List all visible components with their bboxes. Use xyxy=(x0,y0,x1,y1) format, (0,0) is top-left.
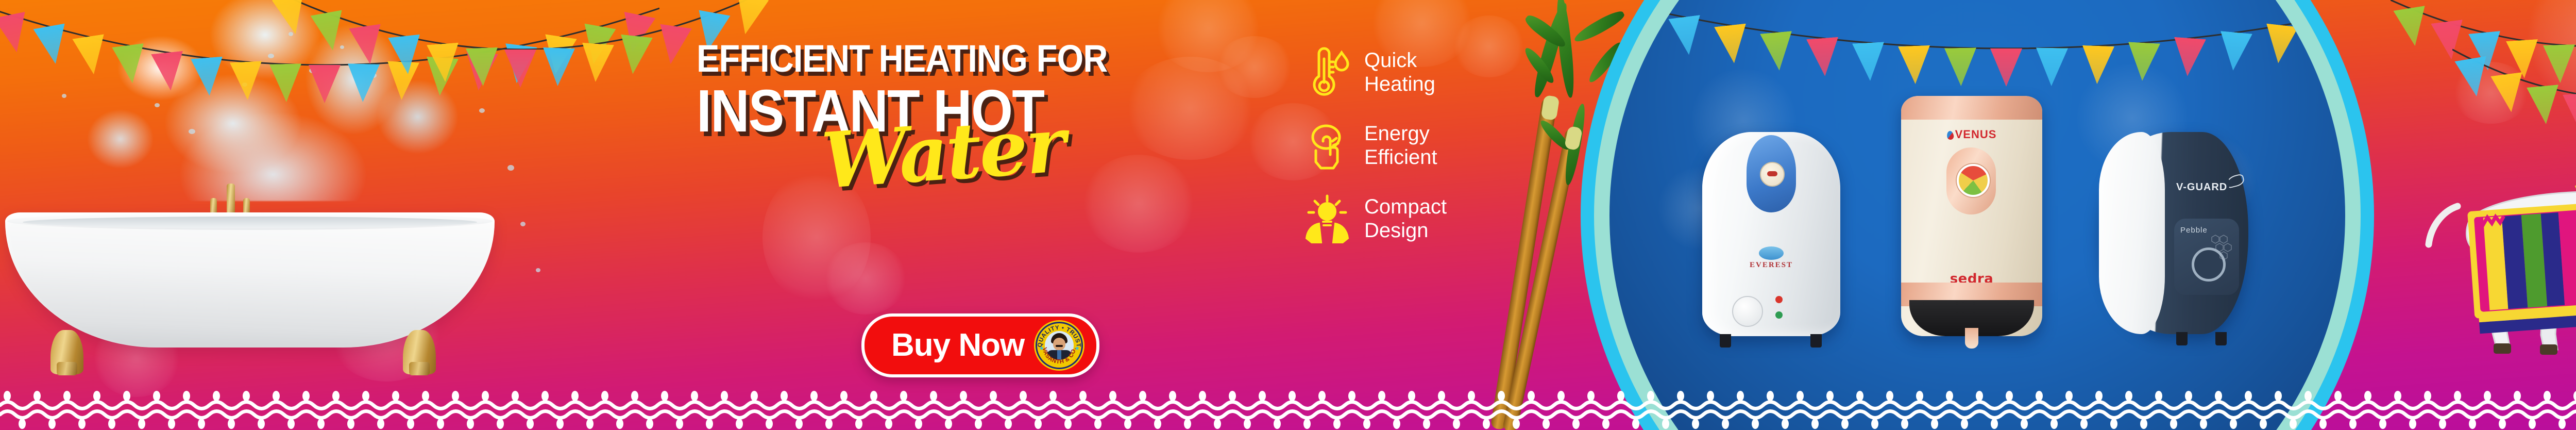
power-led xyxy=(1775,311,1783,319)
kolam-dot xyxy=(1035,419,1042,429)
kolam-dot xyxy=(721,391,728,401)
kolam-dot xyxy=(407,419,414,429)
kolam-dot xyxy=(138,419,145,429)
kolam-dot xyxy=(2454,391,2461,401)
kolam-dot xyxy=(1094,419,1101,429)
kolam-dot xyxy=(1752,419,1759,429)
product-brand-label: V-GUARD xyxy=(2176,181,2227,193)
kolam-dot xyxy=(1647,391,1654,401)
kolam-dot xyxy=(1856,391,1863,401)
kolam-dot xyxy=(825,419,833,429)
kolam-dot xyxy=(1020,391,1027,401)
bunting-flag xyxy=(33,24,71,67)
kolam-dot xyxy=(691,391,698,401)
bunting-flags xyxy=(2391,0,2576,62)
kolam-dot xyxy=(960,391,967,401)
kolam-dot xyxy=(258,419,265,429)
kolam-dot xyxy=(1991,419,1998,429)
water-splash xyxy=(72,0,474,201)
feature-compact-design: Compact Design xyxy=(1303,192,1525,245)
kolam-dot xyxy=(1274,419,1281,429)
bunting-flag xyxy=(730,0,769,38)
kolam-dot xyxy=(1901,419,1908,429)
decorated-pongal-bull xyxy=(2421,77,2576,366)
kolam-dot xyxy=(452,391,459,401)
kolam-dot xyxy=(362,391,369,401)
kolam-dot xyxy=(1423,419,1430,429)
kolam-dot xyxy=(1557,391,1565,401)
feature-quick-heating-label: Quick Heating xyxy=(1364,48,1435,96)
kolam-dot xyxy=(2275,391,2282,401)
heating-led xyxy=(1775,296,1783,303)
vasanth-co-badge: QUALITY • TRUST VASANTH & CO. xyxy=(1036,322,1083,369)
kolam-dot xyxy=(1871,419,1878,429)
bunting-flag xyxy=(578,24,616,67)
feature-compact-design-label: Compact Design xyxy=(1364,195,1447,242)
kolam-dot xyxy=(571,391,579,401)
kolam-dot xyxy=(1468,391,1475,401)
kolam-dot xyxy=(1259,391,1266,401)
kolam-dot xyxy=(855,419,862,429)
feature-list: Quick Heating Energy Efficient xyxy=(1303,45,1525,245)
temperature-gauge xyxy=(1957,164,1990,197)
kolam-dot xyxy=(1916,391,1923,401)
bunting-flag xyxy=(501,43,537,85)
buy-now-button[interactable]: Buy Now QUALITY • TRUST VASANTH & CO. xyxy=(861,313,1099,377)
bunting-flag xyxy=(539,35,577,77)
kolam-dot xyxy=(870,391,877,401)
bunting-flag xyxy=(617,35,653,76)
kolam-dot xyxy=(2529,419,2536,429)
feature-energy-efficient-label: Energy Efficient xyxy=(1364,122,1437,169)
kolam-dot xyxy=(915,419,922,429)
kolam-dot xyxy=(1049,391,1057,401)
bunting-flag xyxy=(1806,37,1841,77)
venus-drop-logo xyxy=(1946,130,1954,140)
kolam-dot xyxy=(1184,419,1191,429)
kolam-dot xyxy=(2379,419,2386,429)
kolam-dot xyxy=(2215,391,2222,401)
kolam-dot xyxy=(302,391,310,401)
feature-quick-heating: Quick Heating xyxy=(1303,45,1525,99)
bunting-flag xyxy=(1714,24,1750,65)
buy-now-label: Buy Now xyxy=(891,329,1024,361)
kolam-dot xyxy=(1662,419,1669,429)
kolam-wave-line xyxy=(0,402,2576,409)
headline-line-1: EFFICIENT HEATING FOR xyxy=(697,40,1216,78)
kolam-dot xyxy=(93,391,100,401)
feature-line-2: Heating xyxy=(1364,72,1435,96)
kolam-dot xyxy=(631,391,638,401)
kolam-dot xyxy=(2200,419,2207,429)
kolam-dot xyxy=(2170,419,2177,429)
kolam-dot xyxy=(1976,391,1983,401)
product-everest: EVEREST xyxy=(1702,132,1840,336)
kolam-dot xyxy=(1139,391,1146,401)
kolam-dot xyxy=(556,419,564,429)
kolam-dot xyxy=(19,419,26,429)
bunting-flag xyxy=(2262,24,2298,65)
feature-line-1: Compact xyxy=(1364,195,1447,219)
kolam-dot xyxy=(33,391,41,401)
kolam-dot xyxy=(1946,391,1953,401)
bunting-flag xyxy=(2468,31,2504,72)
kolam-dot xyxy=(2514,391,2521,401)
hex-pattern-icon xyxy=(2211,232,2236,262)
kolam-dot xyxy=(1378,391,1385,401)
kolam-dot xyxy=(751,391,758,401)
kolam-dot xyxy=(437,419,444,429)
kolam-dot xyxy=(930,391,937,401)
kolam-dot xyxy=(78,419,86,429)
kolam-dot xyxy=(4,391,11,401)
kolam-dot xyxy=(213,391,220,401)
kolam-dot xyxy=(840,391,848,401)
kolam-dot xyxy=(243,391,250,401)
kolam-dot xyxy=(2439,419,2446,429)
kolam-dot xyxy=(2409,419,2416,429)
bunting-flag xyxy=(580,42,614,82)
feature-line-1: Energy xyxy=(1364,122,1437,145)
kolam-dot xyxy=(1438,391,1445,401)
kolam-dot xyxy=(198,419,205,429)
kolam-dot xyxy=(781,391,788,401)
kolam-dot xyxy=(1483,419,1490,429)
kolam-dot xyxy=(1811,419,1819,429)
kolam-dot xyxy=(601,391,608,401)
kolam-dot xyxy=(795,419,803,429)
kolam-dot xyxy=(347,419,354,429)
kolam-dot xyxy=(1214,419,1221,429)
kolam-dot xyxy=(885,419,892,429)
kolam-dot xyxy=(1602,419,1609,429)
kolam-dot xyxy=(273,391,280,401)
kolam-dot xyxy=(153,391,160,401)
kolam-dot xyxy=(1513,419,1520,429)
kolam-dot xyxy=(2499,419,2506,429)
kolam-dot xyxy=(183,391,190,401)
kolam-dot xyxy=(2050,419,2058,429)
bunting-flag xyxy=(1898,45,1931,85)
kolam-dot xyxy=(1199,391,1206,401)
bunting-flag xyxy=(542,47,575,87)
kolam-dot xyxy=(1931,419,1938,429)
kolam-dot xyxy=(1079,391,1087,401)
kolam-dot xyxy=(317,419,325,429)
kolam-dot xyxy=(123,391,130,401)
kolam-wave-line xyxy=(0,411,2576,418)
everest-mountain-logo xyxy=(1759,246,1784,260)
kolam-dot xyxy=(63,391,71,401)
kolam-dot xyxy=(766,419,773,429)
kolam-dot xyxy=(2544,391,2551,401)
kolam-dot xyxy=(1498,391,1505,401)
kolam-dot xyxy=(1528,391,1535,401)
kolam-dot xyxy=(1169,391,1176,401)
kolam-wave-border xyxy=(0,383,2576,430)
feature-line-1: Quick xyxy=(1364,48,1435,72)
kolam-dot xyxy=(1572,419,1580,429)
feature-line-2: Design xyxy=(1364,219,1447,242)
kolam-dot xyxy=(1289,391,1296,401)
product-model-label: Pebble xyxy=(2180,226,2208,235)
kolam-dot xyxy=(482,391,489,401)
kolam-dot xyxy=(1632,419,1639,429)
kolam-dot xyxy=(1005,419,1012,429)
kolam-dot xyxy=(736,419,743,429)
bunting-flag xyxy=(1760,31,1795,72)
kolam-dot xyxy=(2469,419,2476,429)
kolam-dot xyxy=(2304,391,2312,401)
kolam-dot xyxy=(422,391,429,401)
badge-text-arcs: QUALITY • TRUST VASANTH & CO. xyxy=(1037,323,1081,368)
kolam-dot xyxy=(1154,419,1161,429)
water-spout xyxy=(1965,328,1978,349)
bunting-flag xyxy=(2431,20,2467,62)
kolam-dot xyxy=(2484,391,2491,401)
kolam-dot xyxy=(945,419,952,429)
kolam-dot xyxy=(2006,391,2013,401)
bunting-flag xyxy=(1852,42,1886,81)
hand-press-power-icon xyxy=(1303,119,1351,172)
bunting-flag xyxy=(1990,48,2022,87)
kolam-dot xyxy=(646,419,653,429)
kolam-dot xyxy=(2573,391,2576,401)
badge-top-text: QUALITY • TRUST xyxy=(1037,325,1081,348)
kolam-dot xyxy=(1886,391,1893,401)
kolam-dot xyxy=(1333,419,1341,429)
kolam-dot xyxy=(108,419,115,429)
feature-line-2: Efficient xyxy=(1364,145,1437,169)
kolam-dot xyxy=(1737,391,1744,401)
kolam-dot xyxy=(527,419,534,429)
kolam-dot xyxy=(1363,419,1370,429)
kolam-dot xyxy=(2155,391,2162,401)
kolam-dot xyxy=(1826,391,1834,401)
kolam-dot xyxy=(586,419,594,429)
kolam-dot xyxy=(990,391,997,401)
bunting-flag xyxy=(2172,37,2206,77)
kolam-dot xyxy=(1722,419,1729,429)
kolam-dot xyxy=(1244,419,1251,429)
product-brand-label: EVEREST xyxy=(1702,261,1840,270)
kolam-dot xyxy=(392,391,399,401)
kolam-dot xyxy=(1617,391,1624,401)
kolam-dot xyxy=(2230,419,2237,429)
kolam-dot xyxy=(2319,419,2327,429)
kolam-dot xyxy=(2036,391,2043,401)
kolam-dot xyxy=(541,391,549,401)
kolam-dot xyxy=(2558,419,2566,429)
bunting-flag xyxy=(617,11,655,55)
kolam-dot xyxy=(2021,419,2028,429)
kolam-dot xyxy=(332,391,340,401)
kolam-dot xyxy=(616,419,623,429)
bunting-flag xyxy=(2217,31,2252,72)
kolam-dot xyxy=(2364,391,2371,401)
product-vguard: V-GUARD Pebble xyxy=(2099,132,2248,334)
kolam-dot xyxy=(2290,419,2297,429)
kolam-dot xyxy=(228,419,235,429)
bunting-flag xyxy=(1944,47,1977,86)
kolam-dot xyxy=(1797,391,1804,401)
kolam-dot xyxy=(2110,419,2117,429)
kolam-dot xyxy=(2424,391,2431,401)
feature-energy-efficient: Energy Efficient xyxy=(1303,119,1525,172)
kolam-dot xyxy=(1109,391,1116,401)
kolam-dot xyxy=(1841,419,1849,429)
kolam-dot xyxy=(1318,391,1326,401)
kolam-dot xyxy=(975,419,982,429)
kolam-dot xyxy=(1348,391,1355,401)
kolam-dot xyxy=(1124,419,1131,429)
kolam-dot xyxy=(1782,419,1789,429)
kolam-dot xyxy=(1393,419,1400,429)
temperature-dial xyxy=(1732,296,1763,327)
kolam-dot xyxy=(467,419,474,429)
badge-bottom-text: VASANTH & CO. xyxy=(1041,347,1077,365)
kolam-dot xyxy=(1453,419,1460,429)
kolam-dot xyxy=(2394,391,2401,401)
kolam-dot xyxy=(2260,419,2267,429)
kolam-dot xyxy=(810,391,818,401)
kolam-dot xyxy=(168,419,175,429)
kolam-dot xyxy=(287,419,295,429)
bunting-flag xyxy=(0,11,32,55)
bunting-flag xyxy=(2394,6,2431,48)
kolam-dot xyxy=(1587,391,1595,401)
kolam-dot xyxy=(1064,419,1072,429)
kolam-dot xyxy=(512,391,519,401)
kolam-dot xyxy=(1692,419,1699,429)
bunting-flag xyxy=(504,49,536,88)
kolam-dot xyxy=(1707,391,1714,401)
kolam-dot xyxy=(706,419,713,429)
kolam-dot xyxy=(2349,419,2357,429)
kolam-dot xyxy=(2095,391,2103,401)
clawfoot-bathtub xyxy=(5,212,495,367)
bulb-in-hands-icon xyxy=(1303,192,1351,245)
kolam-dot xyxy=(2334,391,2342,401)
bunting-flag xyxy=(1668,15,1705,57)
kolam-dot xyxy=(497,419,504,429)
bunting-flag xyxy=(654,24,691,66)
kolam-dot xyxy=(2185,391,2192,401)
kolam-dot xyxy=(1961,419,1968,429)
kolam-dot xyxy=(377,419,384,429)
product-brand-label: VENUS xyxy=(1901,128,2042,141)
kolam-dot xyxy=(1677,391,1684,401)
product-venus: VENUS sedra xyxy=(1901,96,2042,336)
kolam-dot xyxy=(1408,391,1415,401)
kolam-dot xyxy=(1303,419,1311,429)
kolam-dot xyxy=(1767,391,1774,401)
kolam-dot xyxy=(661,391,668,401)
kolam-dot xyxy=(2140,419,2147,429)
kolam-dot xyxy=(676,419,683,429)
kolam-dot xyxy=(48,419,56,429)
kolam-dot xyxy=(1543,419,1550,429)
kolam-dot xyxy=(2245,391,2252,401)
kolam-dot xyxy=(2080,419,2088,429)
kolam-dot xyxy=(2065,391,2073,401)
bunting-flag xyxy=(2036,47,2068,86)
kolam-dot xyxy=(900,391,907,401)
kolam-dot xyxy=(1229,391,1236,401)
thermometer-droplet-icon xyxy=(1303,45,1351,99)
promo-banner: EFFICIENT HEATING FOR INSTANT HOT Water … xyxy=(0,0,2576,430)
bunting-flag xyxy=(2506,39,2540,79)
kolam-dot xyxy=(2125,391,2132,401)
